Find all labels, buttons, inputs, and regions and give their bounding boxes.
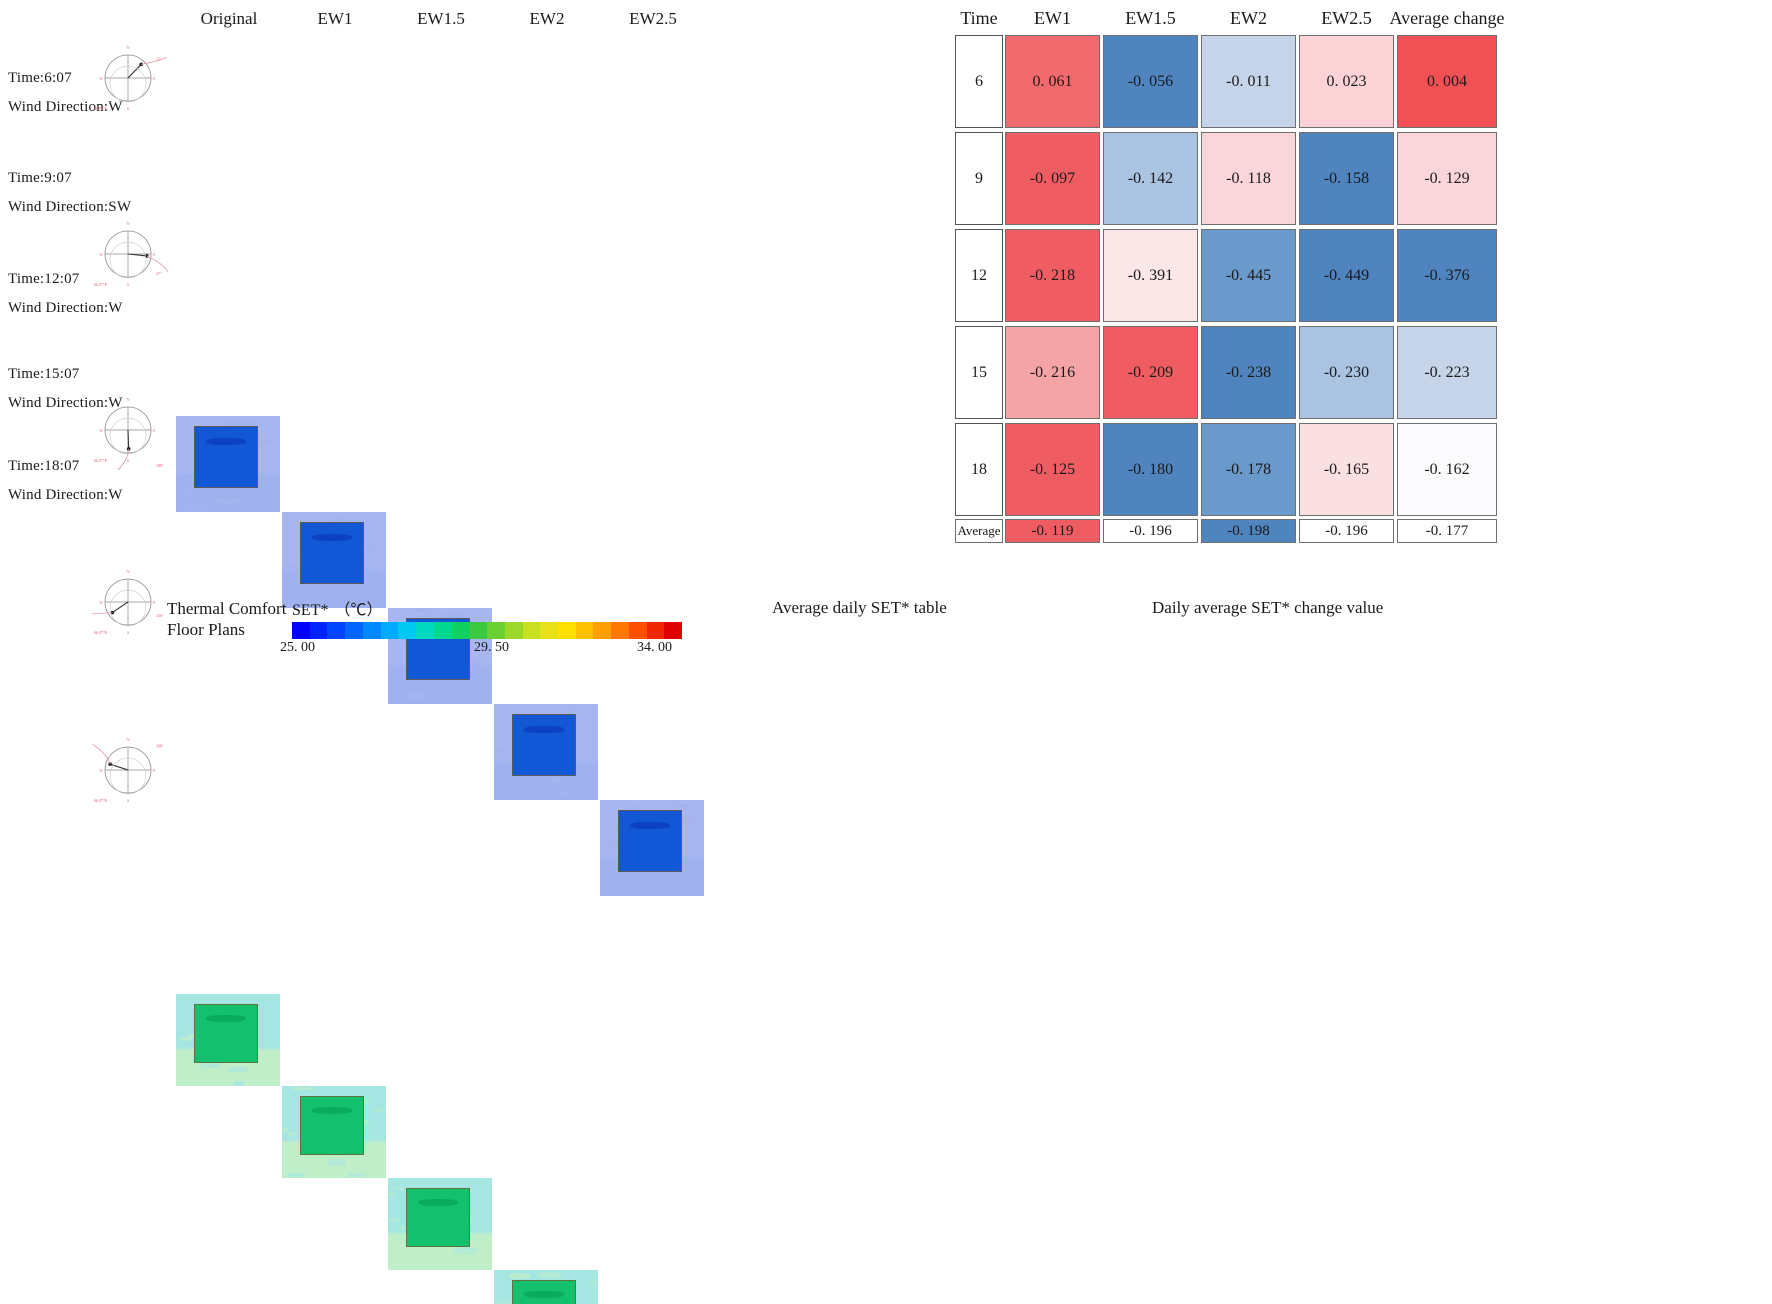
- svg-text:E: E: [153, 428, 156, 433]
- colorbar-stop-13: [523, 622, 541, 639]
- heatmap-cell-r3-c2: -0. 238: [1201, 326, 1296, 419]
- heatmap-cell-r3-c0: -0. 216: [1005, 326, 1100, 419]
- plan-core-streak: [206, 438, 246, 445]
- colorbar-stop-1: [310, 622, 328, 639]
- plan-texture-speckle: [453, 1247, 478, 1254]
- colorbar-stop-20: [647, 622, 665, 639]
- plan-texture-speckle: [551, 705, 572, 710]
- plan-building-block: [194, 1004, 258, 1063]
- svg-text:298°: 298°: [156, 743, 164, 748]
- colorbar-mid-label: 29. 50: [474, 640, 509, 656]
- heatmap-average-cell-1: -0. 196: [1103, 519, 1198, 543]
- svg-text:N: N: [126, 397, 130, 402]
- svg-text:66.07°E: 66.07°E: [94, 630, 108, 635]
- plan-texture-speckle: [362, 525, 385, 528]
- plan-core-streak: [524, 726, 564, 733]
- colorbar-gradient: [292, 622, 682, 639]
- plan-core-streak: [312, 534, 352, 541]
- plan-core-streak: [524, 1291, 564, 1298]
- plan-texture-speckle: [497, 748, 508, 753]
- plan-texture-speckle: [328, 1159, 346, 1166]
- floor-plan-heatmap-r0-c4: [600, 800, 704, 896]
- plan-texture-speckle: [249, 490, 269, 496]
- plan-core-streak: [312, 1107, 352, 1114]
- colorbar-max-label: 34. 00: [637, 640, 672, 656]
- floor-plan-heatmap-r1-c1: [282, 1086, 386, 1178]
- table-row-time-label: 9: [955, 132, 1003, 225]
- floor-plan-heatmap-r0-c3: [494, 704, 598, 800]
- svg-text:N: N: [126, 221, 130, 226]
- plan-row-time-1: Time:9:07: [8, 164, 158, 193]
- table-column-header-1: EW1: [997, 8, 1108, 29]
- heatmap-cell-r3-c4: -0. 223: [1397, 326, 1497, 419]
- plan-texture-speckle: [591, 1280, 597, 1286]
- svg-text:66.07°E: 66.07°E: [94, 282, 108, 287]
- colorbar-stop-12: [505, 622, 523, 639]
- plan-texture-speckle: [538, 1272, 562, 1278]
- plan-texture-speckle: [347, 1173, 366, 1178]
- heatmap-cell-r3-c1: -0. 209: [1103, 326, 1198, 419]
- heatmap-average-cell-3: -0. 196: [1299, 519, 1394, 543]
- svg-text:188°: 188°: [156, 463, 164, 468]
- plan-building-block: [618, 810, 682, 872]
- plan-texture-speckle: [308, 1157, 319, 1161]
- compass-diagram-4: NWES66.07°E298°: [92, 734, 170, 810]
- svg-text:S: S: [127, 798, 130, 803]
- plan-building-block: [300, 522, 364, 584]
- plan-row-wind-4: Wind Direction:W: [8, 481, 158, 510]
- floor-plan-heatmap-r1-c2: [388, 1178, 492, 1270]
- svg-text:W: W: [99, 768, 104, 773]
- plan-texture-speckle: [473, 1205, 477, 1211]
- svg-text:W: W: [99, 252, 104, 257]
- svg-text:S: S: [127, 458, 130, 463]
- heatmap-cell-r4-c1: -0. 180: [1103, 423, 1198, 516]
- plan-texture-speckle: [647, 877, 669, 883]
- plan-texture-speckle: [182, 505, 205, 512]
- colorbar-stop-11: [487, 622, 505, 639]
- mid-panel-caption: Average daily SET* table: [772, 598, 947, 618]
- svg-text:W: W: [99, 600, 104, 605]
- colorbar-stop-14: [540, 622, 558, 639]
- compass-diagram-0: NWES66.07°E13°: [92, 42, 170, 118]
- plan-texture-speckle: [520, 710, 533, 712]
- plan-texture-speckle: [307, 586, 324, 589]
- heatmap-cell-r0-c1: -0. 056: [1103, 35, 1198, 128]
- colorbar-stop-15: [558, 622, 576, 639]
- svg-text:W: W: [99, 76, 104, 81]
- heatmap-average-cell-2: -0. 198: [1201, 519, 1296, 543]
- svg-text:W: W: [99, 428, 104, 433]
- plan-texture-speckle: [377, 1147, 383, 1152]
- floor-plan-heatmap-r1-c3: [494, 1270, 598, 1304]
- plan-texture-speckle: [684, 843, 697, 849]
- plan-texture-speckle: [228, 1067, 248, 1071]
- table-column-header-2: EW1.5: [1095, 8, 1206, 29]
- plan-texture-speckle: [674, 804, 691, 807]
- heatmap-cell-r2-c4: -0. 376: [1397, 229, 1497, 322]
- heatmap-average-cell-4: -0. 177: [1397, 519, 1497, 543]
- heatmap-cell-r0-c4: 0. 004: [1397, 35, 1497, 128]
- colorbar-stop-4: [363, 622, 381, 639]
- right-panel-caption: Daily average SET* change value: [1152, 598, 1383, 618]
- svg-text:S: S: [127, 630, 130, 635]
- plan-texture-speckle: [551, 777, 562, 783]
- plan-core-streak: [418, 1199, 458, 1206]
- floor-plan-heatmap-r1-c0: [176, 994, 280, 1086]
- plan-building-block: [300, 1096, 364, 1155]
- colorbar-stop-10: [469, 622, 487, 639]
- table-row-time-label: 18: [955, 423, 1003, 516]
- colorbar-stop-18: [611, 622, 629, 639]
- plan-texture-speckle: [352, 1087, 375, 1090]
- table-row-time-label: 15: [955, 326, 1003, 419]
- plan-texture-speckle: [408, 1253, 432, 1260]
- plan-texture-speckle: [518, 782, 533, 785]
- heatmap-cell-r4-c3: -0. 165: [1299, 423, 1394, 516]
- plan-building-block: [406, 1188, 470, 1247]
- table-column-header-4: EW2.5: [1291, 8, 1402, 29]
- plan-texture-speckle: [183, 488, 191, 494]
- plan-texture-speckle: [209, 421, 217, 424]
- plan-texture-speckle: [287, 543, 293, 548]
- heatmap-cell-r2-c1: -0. 391: [1103, 229, 1198, 322]
- plan-column-header-4: EW2.5: [600, 9, 706, 29]
- plan-texture-speckle: [233, 1081, 244, 1085]
- plan-texture-speckle: [371, 1109, 386, 1112]
- plan-row-time-3: Time:15:07: [8, 360, 158, 389]
- left-panel-caption: Thermal Comfort Floor Plans: [167, 598, 286, 641]
- plan-texture-speckle: [186, 495, 207, 498]
- table-average-row-label: Average: [955, 519, 1003, 543]
- colorbar-stop-17: [593, 622, 611, 639]
- floor-plan-heatmap-r0-c0: [176, 416, 280, 512]
- colorbar-stop-19: [629, 622, 647, 639]
- colorbar-title: SET*: [292, 602, 328, 620]
- plan-texture-speckle: [288, 583, 294, 586]
- plan-texture-speckle: [259, 1073, 279, 1078]
- colorbar-unit: （℃）: [334, 596, 382, 620]
- compass-diagram-2: NWES66.07°E188°: [92, 394, 170, 470]
- heatmap-cell-r0-c2: -0. 011: [1201, 35, 1296, 128]
- colorbar-stop-16: [576, 622, 594, 639]
- heatmap-cell-r1-c4: -0. 129: [1397, 132, 1497, 225]
- plan-core-streak: [206, 1015, 246, 1022]
- plan-texture-speckle: [473, 661, 483, 667]
- table-row-time-label: 6: [955, 35, 1003, 128]
- compass-diagram-1: NWES66.07°E47°: [92, 218, 170, 294]
- heatmap-cell-r0-c0: 0. 061: [1005, 35, 1100, 128]
- heatmap-cell-r4-c2: -0. 178: [1201, 423, 1296, 516]
- plan-texture-speckle: [666, 889, 679, 892]
- plan-row-wind-1: Wind Direction:SW: [8, 193, 158, 222]
- row-label-block-1: Time:9:07 Wind Direction:SW: [8, 164, 158, 221]
- plan-texture-speckle: [292, 1087, 315, 1090]
- svg-text:E: E: [153, 252, 156, 257]
- table-column-header-3: EW2: [1193, 8, 1304, 29]
- heatmap-cell-r2-c3: -0. 449: [1299, 229, 1394, 322]
- heatmap-cell-r4-c0: -0. 125: [1005, 423, 1100, 516]
- colorbar-stop-3: [345, 622, 363, 639]
- plan-texture-speckle: [404, 694, 427, 701]
- colorbar-stop-21: [664, 622, 682, 639]
- left-panel-caption-line2: Floor Plans: [167, 619, 286, 640]
- plan-texture-speckle: [216, 498, 241, 504]
- plan-texture-speckle: [563, 1271, 574, 1277]
- plan-column-header-2: EW1.5: [388, 9, 494, 29]
- plan-texture-speckle: [357, 585, 361, 588]
- plan-building-block: [512, 714, 576, 776]
- plan-texture-speckle: [690, 818, 695, 825]
- plan-texture-speckle: [187, 1076, 193, 1083]
- heatmap-cell-r1-c2: -0. 118: [1201, 132, 1296, 225]
- heatmap-cell-r1-c3: -0. 158: [1299, 132, 1394, 225]
- svg-text:47°: 47°: [156, 271, 162, 276]
- colorbar-stop-5: [381, 622, 399, 639]
- heatmap-cell-r2-c2: -0. 445: [1201, 229, 1296, 322]
- table-row-time-label: 12: [955, 229, 1003, 322]
- colorbar-stop-0: [292, 622, 310, 639]
- svg-text:E: E: [153, 768, 156, 773]
- colorbar-stop-8: [434, 622, 452, 639]
- plan-texture-speckle: [224, 421, 247, 424]
- heatmap-cell-r0-c3: 0. 023: [1299, 35, 1394, 128]
- plan-building-block: [194, 426, 258, 488]
- colorbar-min-label: 25. 00: [280, 640, 315, 656]
- svg-text:S: S: [127, 106, 130, 111]
- svg-text:66.07°E: 66.07°E: [94, 106, 108, 111]
- plan-column-header-1: EW1: [282, 9, 388, 29]
- colorbar-stop-7: [416, 622, 434, 639]
- plan-texture-speckle: [509, 1273, 530, 1279]
- plan-texture-speckle: [282, 1128, 288, 1132]
- heatmap-cell-r1-c0: -0. 097: [1005, 132, 1100, 225]
- svg-text:S: S: [127, 282, 130, 287]
- plan-texture-speckle: [223, 507, 240, 510]
- plan-texture-speckle: [235, 416, 244, 419]
- heatmap-average-cell-0: -0. 119: [1005, 519, 1100, 543]
- compass-diagram-3: NWES66.07°E256°: [92, 566, 170, 642]
- left-panel-caption-line1: Thermal Comfort: [167, 598, 286, 619]
- plan-column-header-0: Original: [176, 9, 282, 29]
- plan-texture-speckle: [481, 695, 490, 700]
- heatmap-cell-r1-c1: -0. 142: [1103, 132, 1198, 225]
- plan-texture-speckle: [601, 843, 614, 845]
- svg-text:E: E: [153, 600, 156, 605]
- plan-texture-speckle: [176, 1063, 190, 1066]
- plan-texture-speckle: [485, 688, 491, 691]
- plan-texture-speckle: [682, 859, 688, 863]
- svg-text:E: E: [153, 76, 156, 81]
- colorbar-stop-2: [327, 622, 345, 639]
- table-column-header-5: Average change: [1389, 8, 1505, 29]
- svg-text:256°: 256°: [156, 613, 164, 618]
- plan-texture-speckle: [554, 791, 569, 795]
- svg-text:N: N: [126, 569, 130, 574]
- svg-text:13°: 13°: [156, 56, 162, 61]
- svg-text:66.07°E: 66.07°E: [94, 798, 108, 803]
- colorbar-stop-6: [398, 622, 416, 639]
- plan-texture-speckle: [196, 1069, 221, 1072]
- heatmap-cell-r2-c0: -0. 218: [1005, 229, 1100, 322]
- svg-text:N: N: [126, 737, 130, 742]
- floor-plan-heatmap-r0-c1: [282, 512, 386, 608]
- colorbar-legend: SET* （℃） 25. 00 29. 50 34. 00: [292, 596, 687, 657]
- plan-column-header-3: EW2: [494, 9, 600, 29]
- plan-row-wind-2: Wind Direction:W: [8, 294, 158, 323]
- colorbar-stop-9: [452, 622, 470, 639]
- svg-text:66.07°E: 66.07°E: [94, 458, 108, 463]
- plan-core-streak: [630, 822, 670, 829]
- svg-text:N: N: [126, 45, 130, 50]
- plan-texture-speckle: [394, 1187, 403, 1190]
- heatmap-cell-r4-c4: -0. 162: [1397, 423, 1497, 516]
- heatmap-cell-r3-c3: -0. 230: [1299, 326, 1394, 419]
